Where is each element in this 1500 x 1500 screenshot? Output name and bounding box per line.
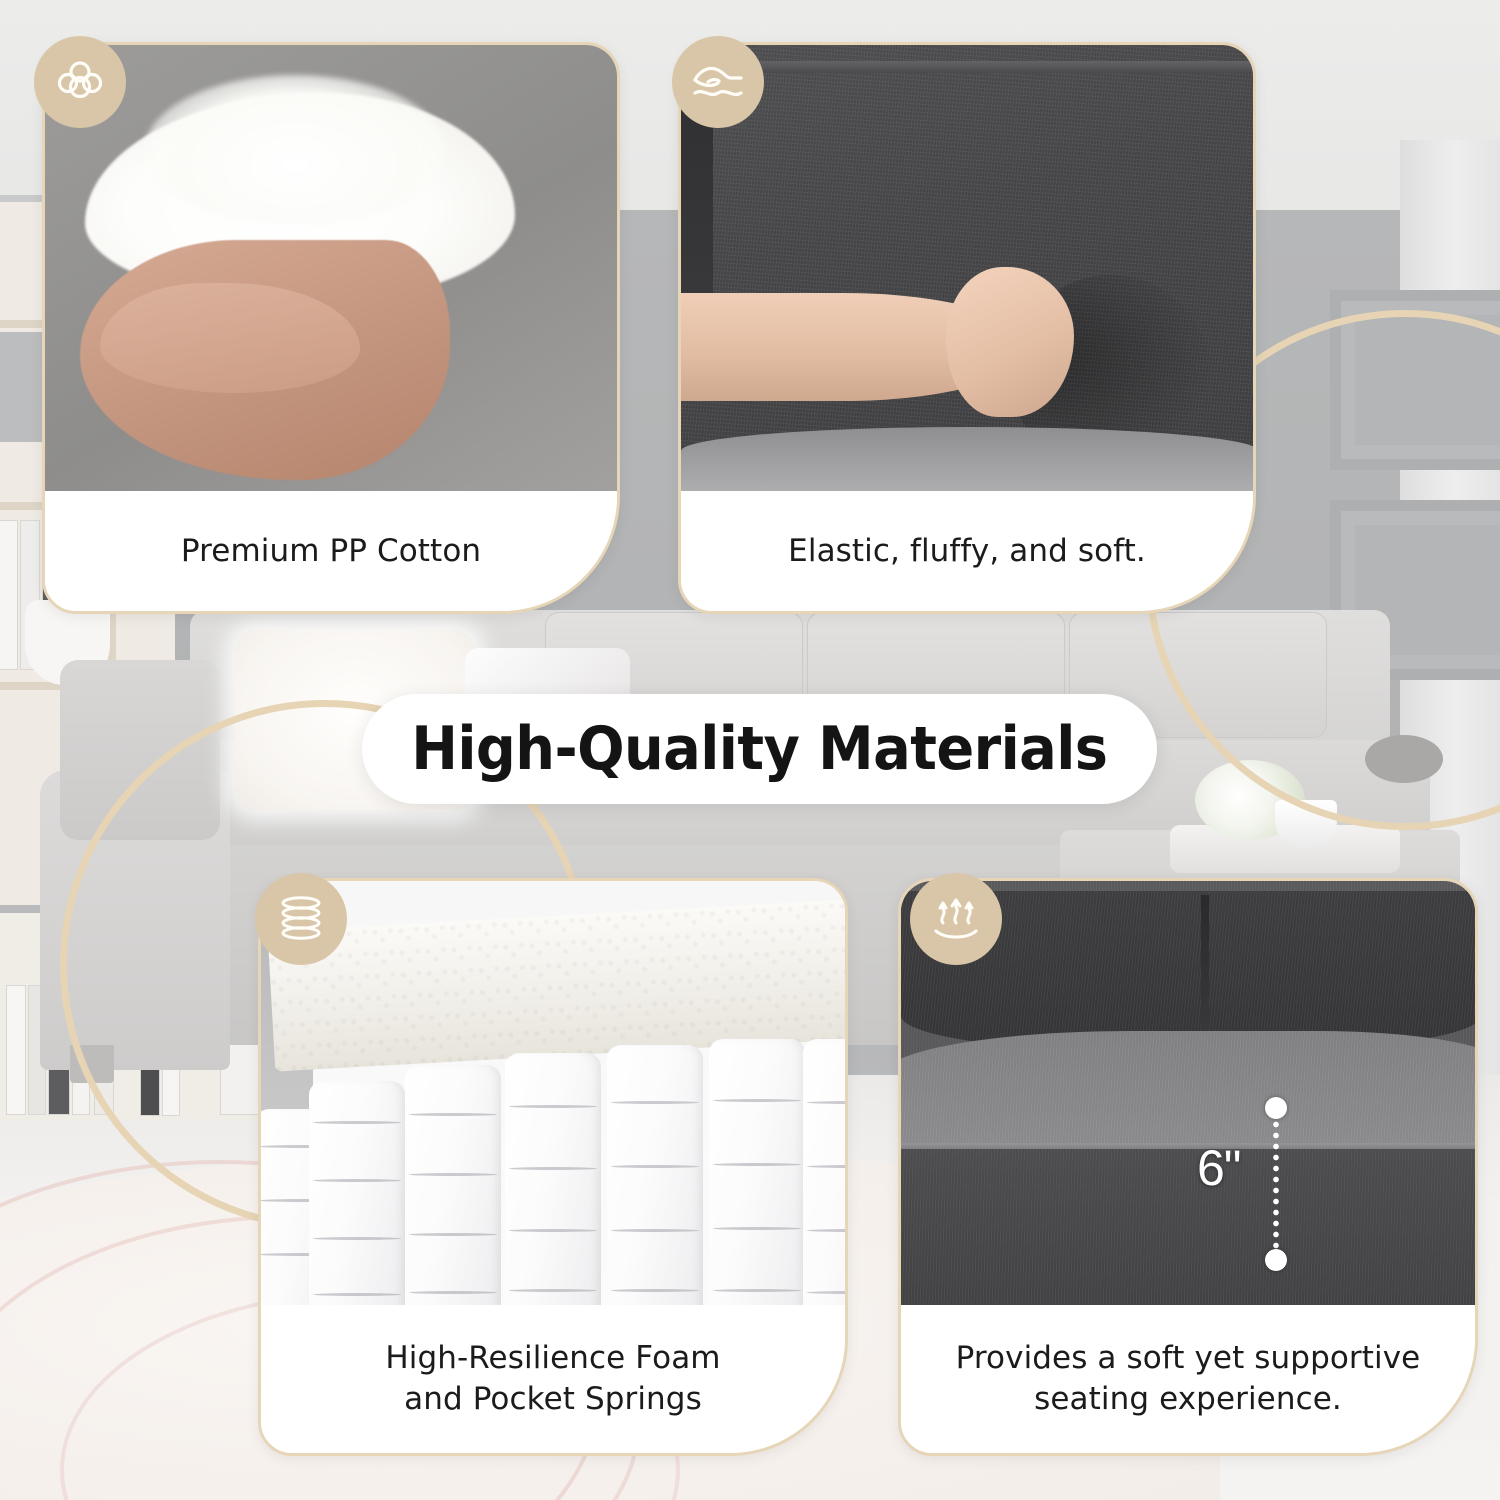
card-caption-soft-supportive-seating: Provides a soft yet supportive seating e… xyxy=(901,1305,1475,1453)
caption-line-2: and Pocket Springs xyxy=(385,1379,720,1420)
photo-foam-and-pocket-springs xyxy=(261,881,845,1311)
feature-card-elastic-fluffy-soft[interactable]: Elastic, fluffy, and soft. xyxy=(678,42,1256,614)
seat-thickness-measurement: 6" xyxy=(1219,1097,1349,1277)
caption-line-1: High-Resilience Foam xyxy=(385,1338,720,1379)
measure-endpoint-bottom xyxy=(1265,1249,1287,1271)
card-caption-premium-pp-cotton: Premium PP Cotton xyxy=(45,491,617,611)
feature-card-high-resilience-foam[interactable]: High-Resilience Foam and Pocket Springs xyxy=(258,878,848,1456)
measure-dotted-line xyxy=(1273,1119,1279,1251)
card-caption-elastic-fluffy-soft: Elastic, fluffy, and soft. xyxy=(681,491,1253,611)
coil-spring-icon xyxy=(255,873,347,965)
feature-card-premium-pp-cotton[interactable]: Premium PP Cotton xyxy=(42,42,620,614)
caption-line-1: Provides a soft yet supportive xyxy=(956,1338,1421,1379)
caption-line-2: seating experience. xyxy=(956,1379,1421,1420)
hand-touch-icon xyxy=(672,36,764,128)
measure-endpoint-top xyxy=(1265,1097,1287,1119)
card-caption-high-resilience-foam: High-Resilience Foam and Pocket Springs xyxy=(261,1305,845,1453)
feature-card-soft-supportive-seating[interactable]: 6" Provides a soft yet supportive seatin… xyxy=(898,878,1478,1456)
photo-hand-holding-pp-cotton xyxy=(45,45,617,497)
headline-banner: High-Quality Materials xyxy=(362,694,1157,804)
measure-label: 6" xyxy=(1197,1139,1241,1197)
infographic-canvas: Premium PP Cotton Elastic, fluffy, and s… xyxy=(0,0,1500,1500)
breathability-icon xyxy=(910,873,1002,965)
photo-arm-pressing-cushion xyxy=(681,45,1253,497)
page-title: High-Quality Materials xyxy=(411,714,1107,784)
cotton-boll-icon xyxy=(34,36,126,128)
